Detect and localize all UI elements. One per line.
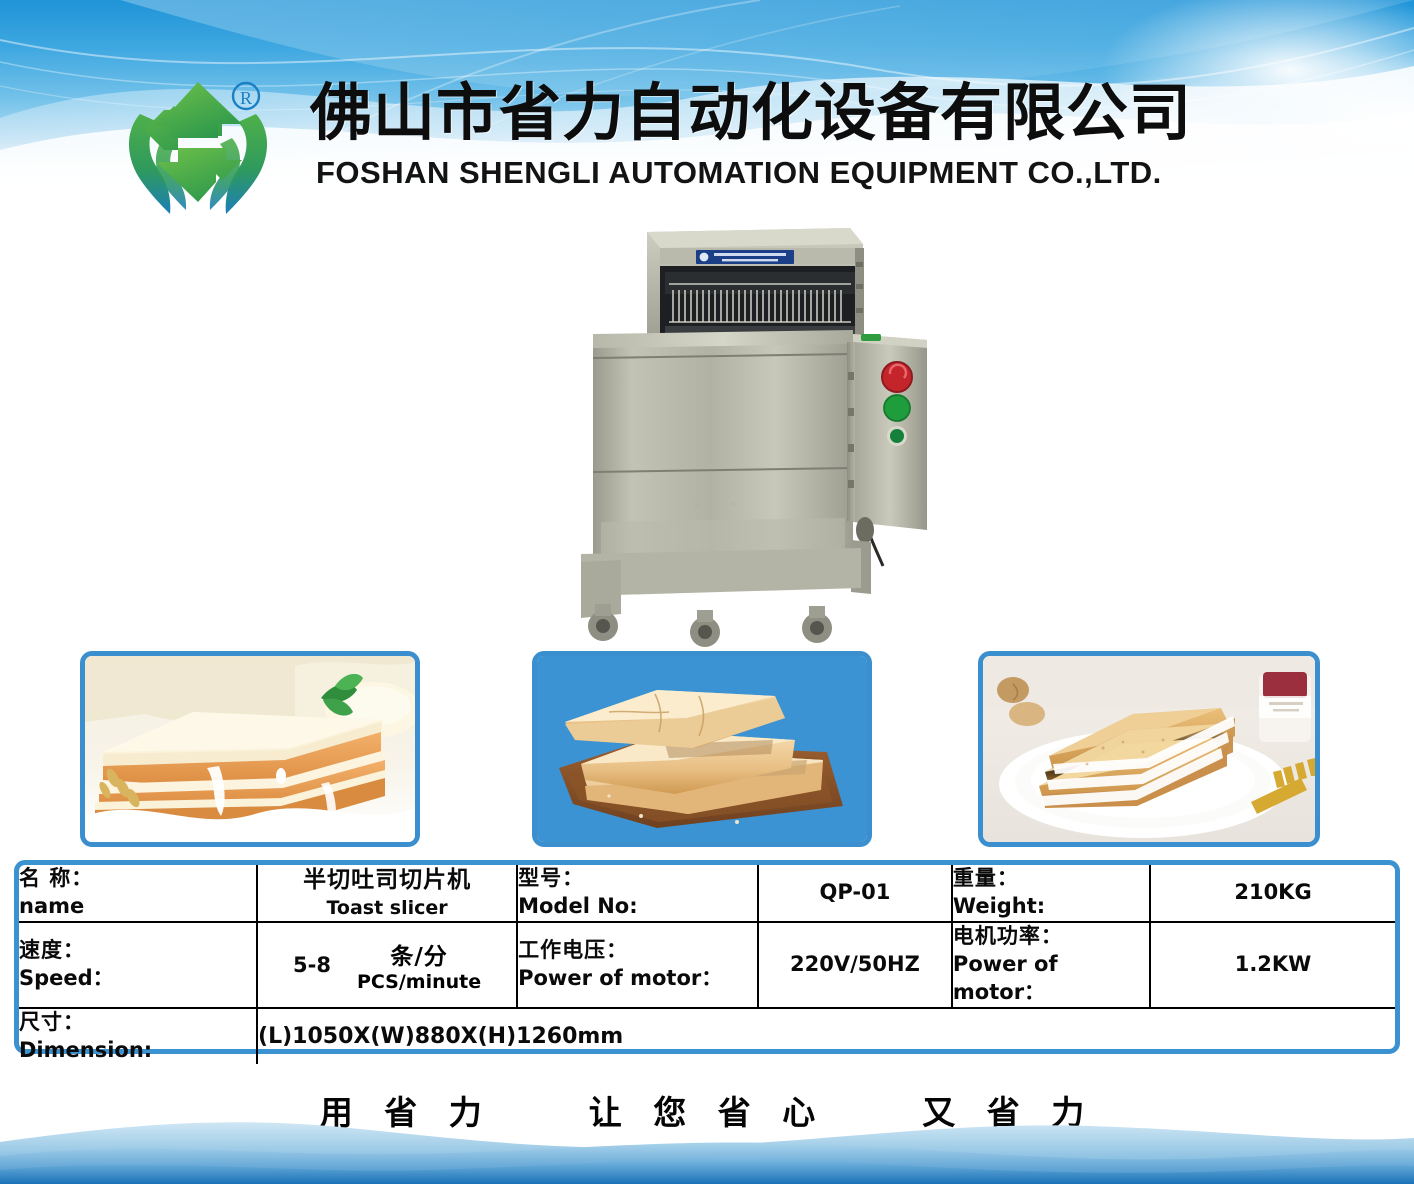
weight-label-en: Weight: xyxy=(953,893,1149,921)
dimension-label-cn: 尺寸： xyxy=(19,1009,256,1037)
cell-model-value: QP-01 xyxy=(758,865,952,922)
motor-power-label-cn: 电机功率： xyxy=(953,923,1149,951)
panel-green-strip xyxy=(861,334,881,341)
speed-unit: 条/分 PCS/minute xyxy=(357,937,481,993)
voltage-label-cn: 工作电压： xyxy=(518,937,757,965)
gallery-image-3 xyxy=(978,651,1320,847)
dimension-label-en: Dimension: xyxy=(19,1037,256,1065)
voltage-label-en: Power of motor： xyxy=(518,965,757,993)
cell-speed-value: 5-8 条/分 PCS/minute xyxy=(257,922,517,1008)
model-label-en: Model No: xyxy=(518,893,757,921)
cell-motor-power-label: 电机功率： Power of motor： xyxy=(952,922,1150,1008)
cell-voltage-label: 工作电压： Power of motor： xyxy=(517,922,758,1008)
shengli-logo: R xyxy=(118,74,278,226)
cell-weight-label: 重量： Weight: xyxy=(952,865,1150,922)
table-row: 尺寸： Dimension: (L)1050X(W)880X(H)1260mm xyxy=(19,1008,1395,1065)
cell-weight-value: 210KG xyxy=(1150,865,1395,922)
company-name-en: FOSHAN SHENGLI AUTOMATION EQUIPMENT CO.,… xyxy=(316,156,1326,190)
product-spec-sheet: R 佛山市省力自动化设备有限公司 FOSHAN SHENGLI AUTOMATI… xyxy=(0,0,1414,1184)
cell-motor-power-value: 1.2KW xyxy=(1150,922,1395,1008)
cell-name-label: 名 称： name xyxy=(19,865,257,922)
company-name-cn: 佛山市省力自动化设备有限公司 xyxy=(310,76,1330,150)
cell-voltage-value: 220V/50HZ xyxy=(758,922,952,1008)
product-name-cn: 半切吐司切片机 xyxy=(258,866,516,896)
indicator-light xyxy=(890,429,904,443)
gallery-image-1 xyxy=(80,651,420,847)
caster-wheels xyxy=(588,604,832,647)
jam-jar xyxy=(1259,672,1311,742)
name-label-cn: 名 称： xyxy=(19,865,256,893)
machine-nameplate xyxy=(696,250,794,264)
speed-label-cn: 速度： xyxy=(19,937,256,965)
speed-label-en: Speed： xyxy=(19,965,256,993)
product-name-en: Toast slicer xyxy=(258,896,516,921)
cell-name-value: 半切吐司切片机 Toast slicer xyxy=(257,865,517,922)
cell-model-label: 型号： Model No: xyxy=(517,865,758,922)
table-row: 名 称： name 半切吐司切片机 Toast slicer 型号： Model… xyxy=(19,865,1395,922)
motor-power-label-en: Power of motor： xyxy=(953,951,1149,1007)
footer-wave-decoration xyxy=(0,1112,1414,1184)
weight-label-cn: 重量： xyxy=(953,865,1149,893)
machine-photo xyxy=(565,222,955,647)
speed-unit-cn: 条/分 xyxy=(357,937,481,971)
table-row: 速度： Speed： 5-8 条/分 PCS/minute xyxy=(19,922,1395,1008)
name-label-en: name xyxy=(19,893,256,921)
cell-speed-label: 速度： Speed： xyxy=(19,922,257,1008)
specification-table: 名 称： name 半切吐司切片机 Toast slicer 型号： Model… xyxy=(14,860,1400,1054)
speed-number: 5-8 xyxy=(293,953,331,977)
speed-unit-en: PCS/minute xyxy=(357,971,481,993)
gallery-image-2 xyxy=(532,651,872,847)
cell-dimension-value: (L)1050X(W)880X(H)1260mm xyxy=(257,1008,1395,1065)
model-label-cn: 型号： xyxy=(518,865,757,893)
cell-dimension-label: 尺寸： Dimension: xyxy=(19,1008,257,1065)
svg-text:R: R xyxy=(240,88,252,108)
